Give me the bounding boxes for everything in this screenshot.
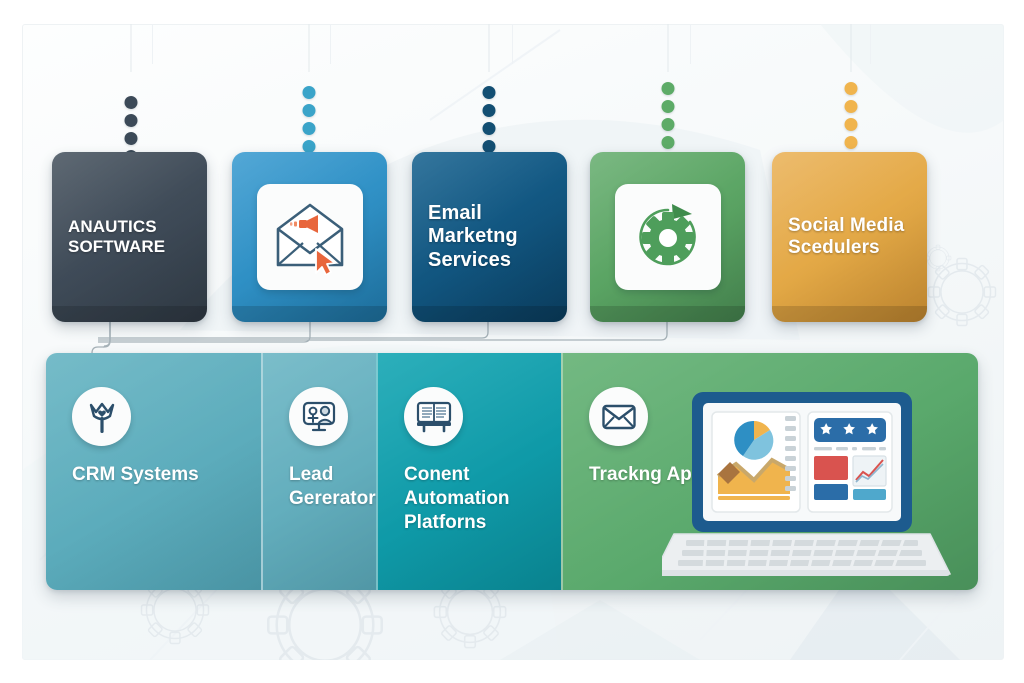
segment-lead-generators[interactable]: Lead Gererators xyxy=(261,353,376,590)
column-guide xyxy=(690,24,691,64)
segment-label: CRM Systems xyxy=(72,463,253,487)
segment-crm-systems[interactable]: CRM Systems xyxy=(46,353,261,590)
hanger-dot xyxy=(845,136,858,149)
segment-icon-badge xyxy=(72,387,131,446)
segment-icon-badge xyxy=(289,387,348,446)
card-email-open-rate[interactable] xyxy=(232,152,387,322)
tulip-heart-icon xyxy=(84,398,120,436)
hanger-social xyxy=(838,24,864,144)
laptop-analytics-dashboard xyxy=(662,388,962,584)
card-label: Email Marketng Services xyxy=(428,202,557,272)
segment-tracking-apps[interactable]: Trackng Apps xyxy=(561,353,978,590)
segment-icon-badge xyxy=(589,387,648,446)
card-foot-shadow xyxy=(412,306,567,322)
card-foot-shadow xyxy=(232,306,387,322)
hanger-wire xyxy=(851,24,852,72)
hanger-dot xyxy=(662,118,675,131)
hanger-email-open xyxy=(296,24,322,144)
card-social-media-schedulers[interactable]: Social Media Scedulers xyxy=(772,152,927,322)
column-guide xyxy=(330,24,331,64)
hanger-dot xyxy=(125,114,138,127)
hanger-wire xyxy=(489,24,490,72)
bottom-panel: CRM Systems Lead Gererators xyxy=(46,353,978,590)
hanger-analytics xyxy=(118,24,144,144)
card-email-marketing-services[interactable]: Email Marketng Services xyxy=(412,152,567,322)
card-foot-shadow xyxy=(590,306,745,322)
open-envelope-cursor-icon xyxy=(270,199,350,275)
segment-content-automation-platforms[interactable]: Conent Automation Platforns xyxy=(376,353,561,590)
card-marketing-automation[interactable] xyxy=(590,152,745,322)
hanger-dot xyxy=(483,86,496,99)
column-guide xyxy=(512,24,513,64)
hanger-dot xyxy=(662,100,675,113)
envelope-icon xyxy=(601,403,637,431)
hanger-email-marketing xyxy=(476,24,502,144)
column-guide xyxy=(870,24,871,64)
hanger-wire xyxy=(668,24,669,72)
hanger-automation xyxy=(655,24,681,144)
hanger-dot xyxy=(483,104,496,117)
people-screen-icon xyxy=(300,400,338,434)
hanger-dot xyxy=(303,86,316,99)
hanger-wire xyxy=(131,24,132,72)
hanger-dot xyxy=(662,136,675,149)
segment-label: Lead Gererators xyxy=(289,463,368,511)
segment-label: Conent Automation Platforns xyxy=(404,463,553,535)
card-foot-shadow xyxy=(52,306,207,322)
hanger-dot xyxy=(845,82,858,95)
card-analytics-software[interactable]: ANAUTICS SOFTWARE xyxy=(52,152,207,322)
document-monitor-icon xyxy=(415,400,453,434)
card-icon-container xyxy=(615,184,721,290)
card-foot-shadow xyxy=(772,306,927,322)
hanger-wire xyxy=(309,24,310,72)
hanger-dot xyxy=(125,132,138,145)
hanger-dot xyxy=(303,104,316,117)
hanger-dot xyxy=(483,122,496,135)
gear-refresh-icon xyxy=(628,197,708,277)
column-guide xyxy=(152,24,153,64)
hanger-dot xyxy=(662,82,675,95)
hanger-dot xyxy=(845,118,858,131)
hanger-dot xyxy=(303,122,316,135)
card-icon-container xyxy=(257,184,363,290)
hanger-dot xyxy=(845,100,858,113)
hanger-dot xyxy=(125,96,138,109)
card-label: ANAUTICS SOFTWARE xyxy=(68,217,197,257)
card-label: Social Media Scedulers xyxy=(788,215,917,259)
segment-icon-badge xyxy=(404,387,463,446)
